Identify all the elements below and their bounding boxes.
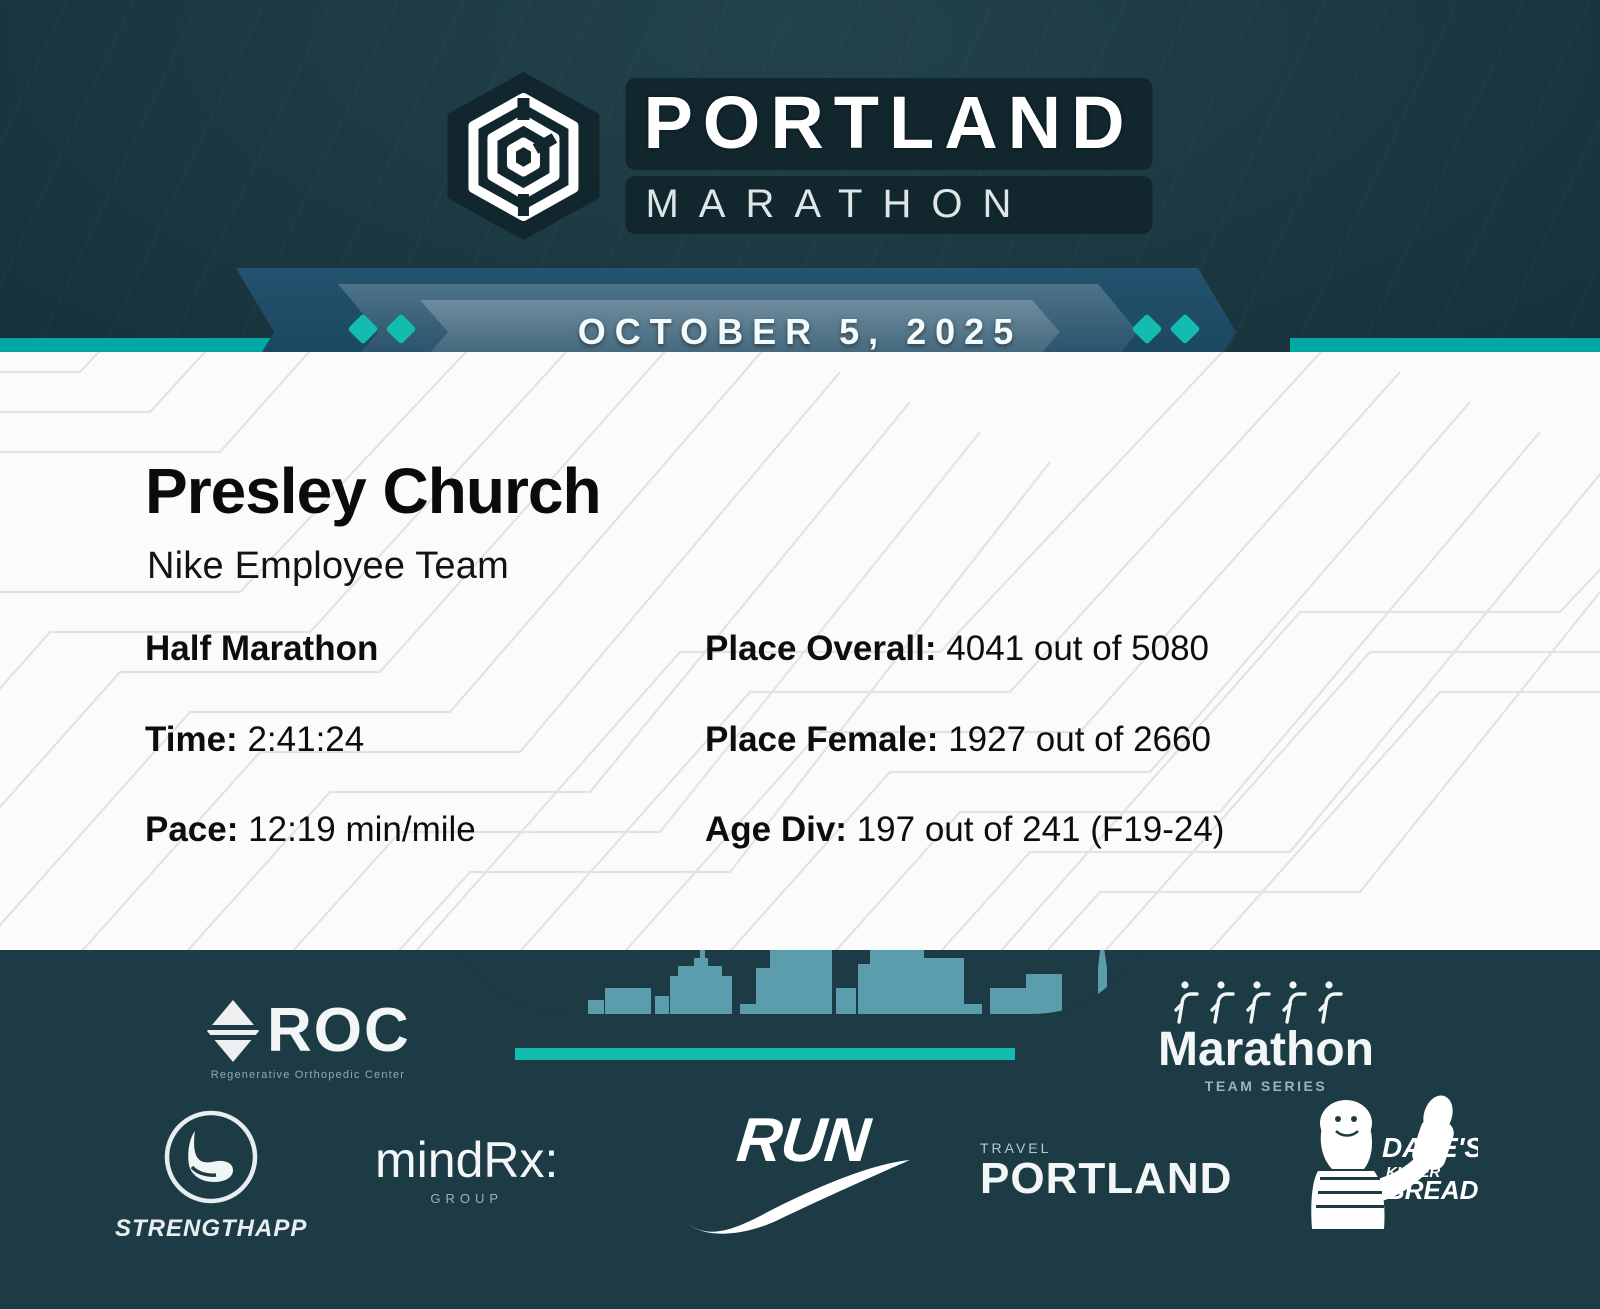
diamond-icon (1131, 313, 1162, 344)
sponsor-roc-name: ROC (267, 995, 411, 1066)
sponsor-strengthapp: STRENGTHAPP (115, 1105, 307, 1243)
dkb-line1: DAVE'S (1382, 1132, 1478, 1163)
result-row-time: Time: 2:41:24 (145, 721, 705, 760)
diamond-icon (1169, 313, 1200, 344)
diamond-icon (385, 313, 416, 344)
sponsor-mindrx-tagline: GROUP (430, 1191, 503, 1206)
sponsor-strengthapp-name: STRENGTHAPP (115, 1215, 307, 1243)
result-label: Half Marathon (145, 629, 378, 668)
result-value: 1927 out of 2660 (948, 720, 1211, 759)
result-label: Age Div: (705, 810, 847, 849)
result-value: 12:19 min/mile (248, 810, 476, 849)
diamond-icon (347, 313, 378, 344)
result-value: 4041 out of 5080 (946, 629, 1209, 668)
result-value: 2:41:24 (247, 720, 364, 759)
result-row-place-female: Place Female: 1927 out of 2660 (705, 721, 1405, 760)
result-row-race: Half Marathon (145, 630, 705, 669)
result-label: Time: (145, 720, 238, 759)
athlete-name: Presley Church (145, 458, 601, 525)
teal-baseline (515, 1048, 1015, 1060)
race-result-certificate: PORTLAND MARATHON OCTOBER 5, 2025 (0, 0, 1600, 1309)
result-row-place-overall: Place Overall: 4041 out of 5080 (705, 630, 1405, 669)
results-column-left: Half Marathon Time: 2:41:24 Pace: 12:19 … (145, 630, 705, 902)
sponsor-mindrx: mindRx: GROUP (375, 1135, 558, 1206)
diamond-accents-right (1136, 318, 1196, 340)
diamond-accents-left (352, 318, 412, 340)
flexed-bicep-icon (159, 1105, 263, 1209)
sponsor-roc: ROC Regenerative Orthopedic Center (205, 995, 411, 1081)
result-row-pace: Pace: 12:19 min/mile (145, 811, 705, 850)
event-title-primary: PORTLAND (625, 78, 1152, 170)
event-title-secondary: MARATHON (625, 176, 1152, 234)
sponsor-roc-tagline: Regenerative Orthopedic Center (211, 1069, 405, 1081)
sponsor-travel-portland: TRAVEL PORTLAND (980, 1140, 1232, 1202)
result-label: Pace: (145, 810, 238, 849)
running-figures-icon (1171, 978, 1361, 1024)
sponsor-marathon-team-series: Marathon TEAM SERIES (1158, 978, 1374, 1094)
sponsor-mts-name: Marathon (1158, 1026, 1374, 1074)
daves-killer-bread-icon: DAVE'S KILLER BREAD (1298, 1085, 1478, 1245)
sponsor-nike-run-name: RUN (687, 1110, 920, 1172)
athlete-team: Nike Employee Team (147, 545, 509, 588)
sponsor-travel-portland-name: PORTLAND (980, 1156, 1232, 1202)
dkb-line3: BREAD (1386, 1175, 1478, 1205)
sponsor-nike-run: RUN (690, 1110, 916, 1241)
result-label: Place Overall: (705, 629, 937, 668)
result-row-age-div: Age Div: 197 out of 241 (F19-24) (705, 811, 1405, 850)
roc-diamond-icon (205, 998, 261, 1064)
event-logo-lockup: PORTLAND MARATHON (447, 72, 1152, 240)
sponsor-mindrx-name: mindRx: (375, 1135, 558, 1185)
results-column-right: Place Overall: 4041 out of 5080 Place Fe… (705, 630, 1405, 902)
hexagon-spiral-icon (447, 72, 599, 240)
result-value: 197 out of 241 (F19-24) (857, 810, 1225, 849)
sponsor-daves-killer-bread: DAVE'S KILLER BREAD (1298, 1085, 1478, 1250)
result-label: Place Female: (705, 720, 938, 759)
